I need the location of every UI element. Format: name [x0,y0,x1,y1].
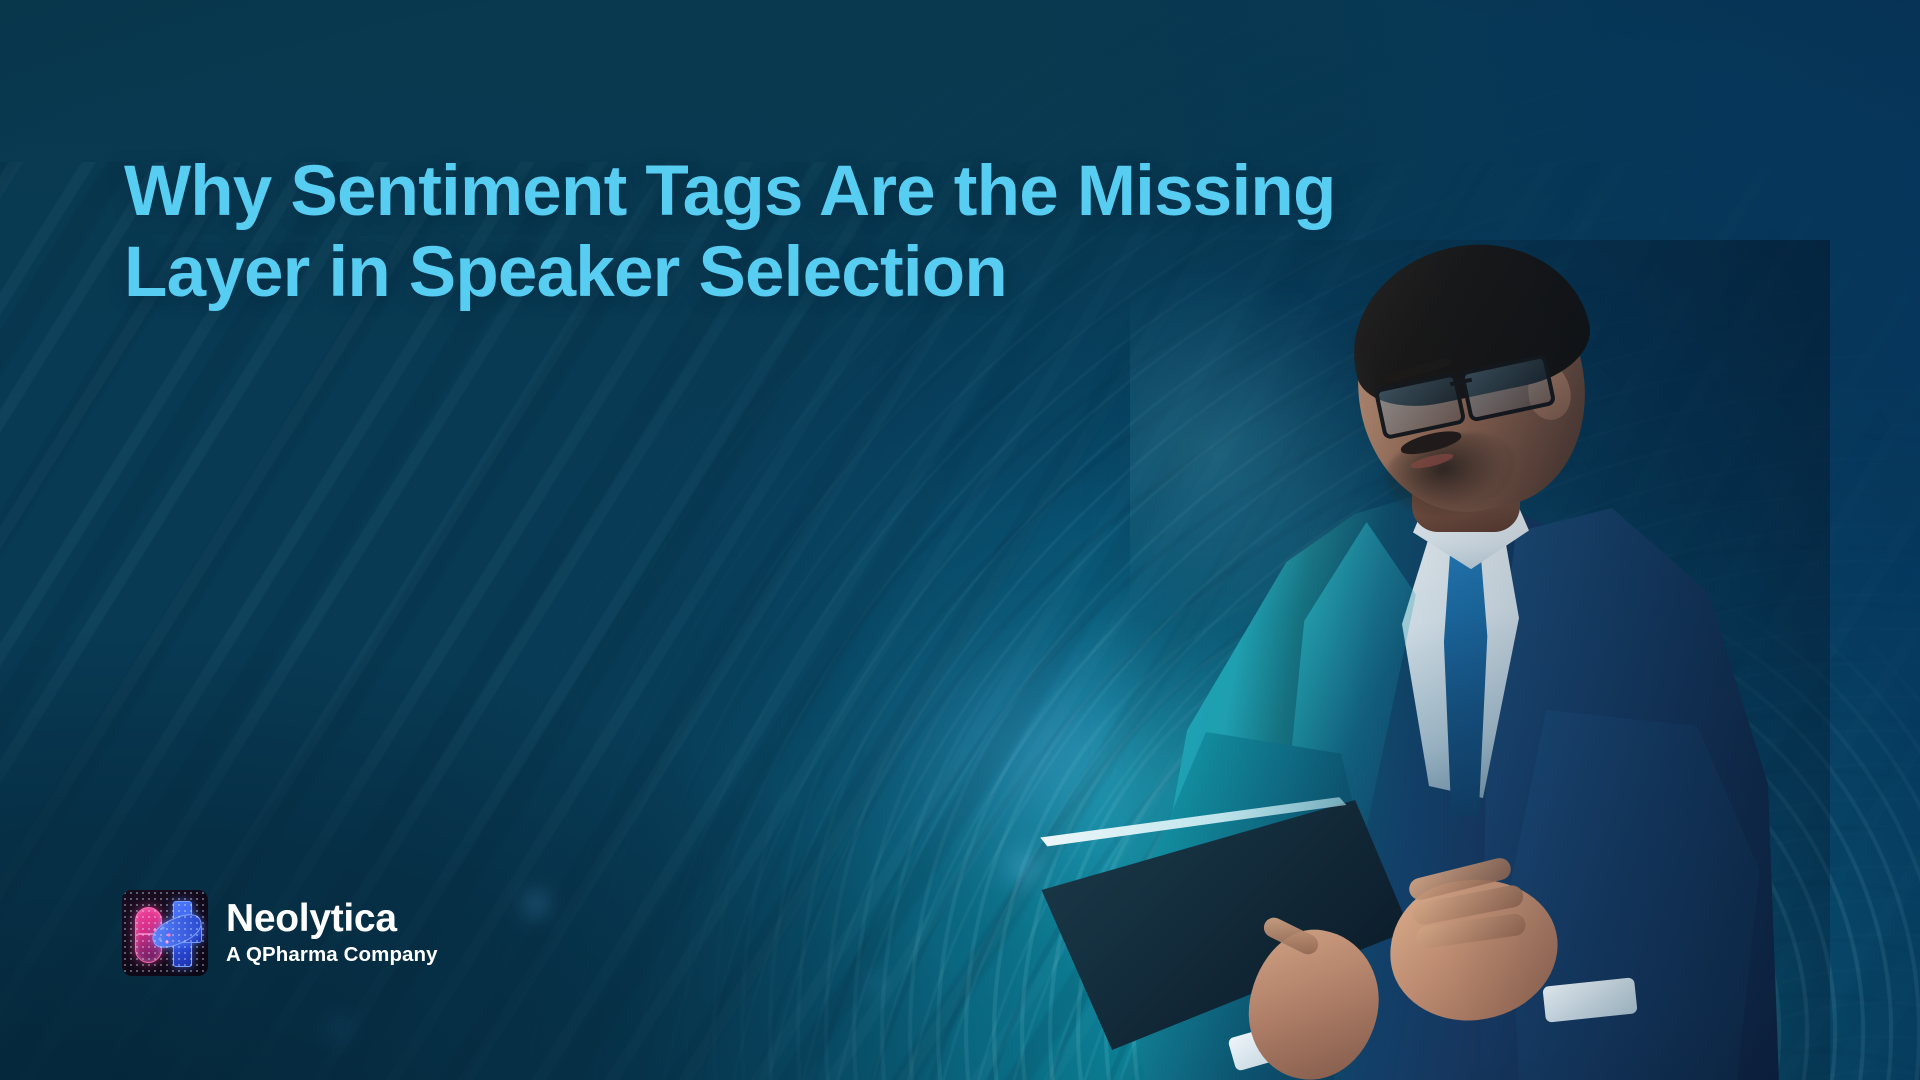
neolytica-pill-cross-mark-icon [122,890,208,976]
logo-text-block: Neolytica A QPharma Company [226,899,438,968]
headline-line-1: Why Sentiment Tags Are the Missing [124,152,1336,231]
logo-tagline: A QPharma Company [226,943,438,967]
background-bottom-shade [0,518,1190,1080]
logo-lockup[interactable]: Neolytica A QPharma Company [122,890,438,976]
logo-name: Neolytica [226,899,438,939]
headline-line-2: Layer in Speaker Selection [124,233,1544,314]
bokeh-dot-5 [864,972,886,994]
subject-businessman-with-tablet [1090,240,1830,1080]
bokeh-dot-1 [518,886,554,922]
page-title: Why Sentiment Tags Are the Missing Layer… [124,152,1544,314]
banner-canvas: Why Sentiment Tags Are the Missing Layer… [0,0,1920,1080]
molecule-nodes-icon [152,926,174,944]
